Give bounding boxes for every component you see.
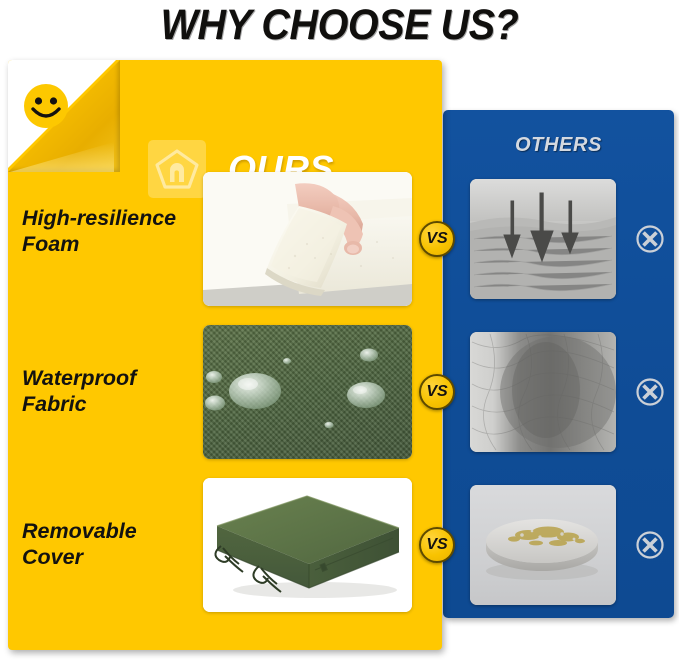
circle-x-icon-1 [635,377,665,407]
others-image-2-stained-round-gray-cushion [470,485,616,605]
feature-label-0-line2: Foam [22,231,197,257]
house-pentagon-logo-icon [148,140,206,198]
others-panel-title: OTHERS [443,134,674,157]
water-droplets [205,349,385,429]
ours-image-2-green-square-cushion-with-ties [203,478,412,612]
vs-badge-0: VS [419,221,455,257]
ours-image-1-green-waterproof-fabric-beading [203,325,412,459]
circle-x-icon-0 [635,224,665,254]
circle-x-icon-2 [635,530,665,560]
feature-label-0-line1: High-resilience [22,205,197,231]
feature-label-1-line2: Fabric [22,391,197,417]
feature-label-2-line2: Cover [22,544,197,570]
others-image-0-gray-foam-compressing-arrows [470,179,616,299]
others-image-1-wet-soaked-gray-fabric [470,332,616,452]
feature-label-0: High-resilience Foam [22,205,197,257]
smiley-face-icon [22,82,70,130]
feature-label-2-line1: Removable [22,518,197,544]
vs-badge-1: VS [419,374,455,410]
vs-badge-2: VS [419,527,455,563]
feature-label-1-line1: Waterproof [22,365,197,391]
page-title: WHY CHOOSE US? [27,0,652,52]
feature-label-1: Waterproof Fabric [22,365,197,417]
feature-label-2: Removable Cover [22,518,197,570]
ours-image-0-hand-pinching-resilient-foam [203,172,412,306]
